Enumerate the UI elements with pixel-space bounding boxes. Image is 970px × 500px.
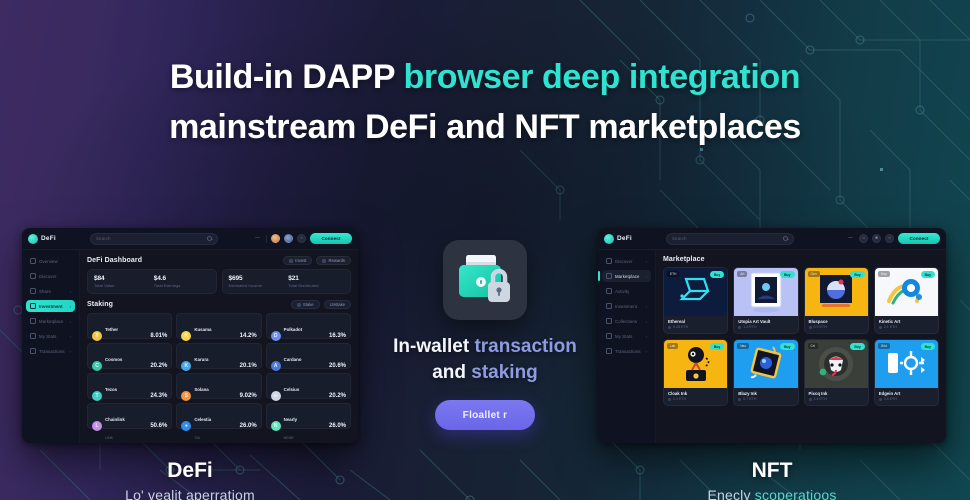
staking-title: Staking xyxy=(87,301,113,308)
stat-card-group-2: $695 Estimated Income $21 Total Distribu… xyxy=(222,269,352,294)
sidebar-item-label: Overview xyxy=(39,259,58,264)
nft-card[interactable]: MapBuyKinetic Art2.1 ETH xyxy=(874,267,939,334)
folder-icon xyxy=(606,318,612,324)
nft-main: Marketplace ETHBuyEthereal0.28 ETHArtBuy… xyxy=(656,250,946,443)
sidebar-item-label: Discover xyxy=(615,259,633,264)
nft-artwork: ETHBuy xyxy=(664,268,727,316)
grid-toggle-icon[interactable]: ■ xyxy=(872,234,881,243)
center-text-plain-2: and xyxy=(432,362,471,383)
nft-tag: Art xyxy=(737,271,747,277)
staking-card-grid: ₮TetherStable8.01%$27 Staked$21 Earned7d… xyxy=(87,313,351,429)
stat-cards: $84 Total Value $4.6 Total Earnings $695… xyxy=(87,269,351,294)
token-name: Cardano xyxy=(284,357,302,362)
sidebar-item-overview[interactable]: Overview xyxy=(26,255,75,267)
activity-icon xyxy=(606,288,612,294)
search-icon xyxy=(207,236,212,241)
stat-label: Total Distributed xyxy=(288,283,344,288)
eth-icon xyxy=(879,398,882,401)
apy-value: 9.02% xyxy=(240,393,257,399)
token-meta: CelestiaTIA xyxy=(194,408,211,443)
unstake-button[interactable]: Unstake xyxy=(324,300,351,309)
token-icon: ∞ xyxy=(271,391,281,401)
staking-card-top: NNearlyNEAR26.0% xyxy=(271,408,346,443)
sidebar-item-my-stats[interactable]: My Stats › xyxy=(26,330,75,342)
brand-label: DeFi xyxy=(41,235,56,242)
nft-caption: NFT Enecly scoperatioos xyxy=(598,458,946,500)
list-icon xyxy=(606,348,612,354)
chevron-right-icon: › xyxy=(646,319,647,324)
token-name: Tether xyxy=(105,327,118,332)
wallet-lock-icon xyxy=(443,240,527,320)
nft-tag: Grid xyxy=(878,343,890,349)
stake-button[interactable]: Stake xyxy=(291,300,320,309)
apy-value: 50.6% xyxy=(150,423,167,429)
page-title: DeFi Dashboard xyxy=(87,257,142,264)
nft-card[interactable]: ArtBuyUtopia Art Vault1.4 ETH xyxy=(733,267,798,334)
defi-topbar: DeFi Search — ☼ Connect xyxy=(22,228,358,250)
defi-dashboard-panel: DeFi Search — ☼ Connect Overview xyxy=(22,228,358,443)
sidebar-item-label: My Stats xyxy=(615,334,633,339)
token-name: Celsius xyxy=(284,387,300,392)
sidebar-item-investment[interactable]: Investment › xyxy=(26,300,75,312)
token-icon: L xyxy=(92,421,102,431)
chevron-right-icon: › xyxy=(70,349,71,354)
staking-card[interactable]: KKusamaKSM14.2%$1 Staked$23 Earned30 Loc… xyxy=(176,313,261,339)
nft-name: Cloak Ink xyxy=(668,391,723,396)
nft-price: 0.9 ETH xyxy=(809,325,864,329)
staking-card[interactable]: ∞CelsiusCEL20.2%$5 Staked$4 Earned30 Loc… xyxy=(266,373,351,399)
nft-price: 0.28 ETH xyxy=(668,325,723,329)
apy-value: 20.2% xyxy=(150,363,167,369)
token-name: Chainlink xyxy=(105,417,125,422)
nft-tag: Map xyxy=(878,271,890,277)
nft-info: Ethereal0.28 ETH xyxy=(664,316,727,333)
eth-icon xyxy=(809,326,812,329)
nft-buy-badge[interactable]: Buy xyxy=(921,271,935,278)
token-symbol: LINK xyxy=(105,436,113,440)
nft-info: Cloak Ink1.1 ETH xyxy=(664,388,727,405)
nft-name: Pixcq Ink xyxy=(809,391,864,396)
nft-info: Blazy Ink0.7 ETH xyxy=(734,388,797,405)
token-name: Cosmos xyxy=(105,357,122,362)
sidebar-item-share[interactable]: Share › xyxy=(26,285,75,297)
avatar[interactable] xyxy=(271,234,280,243)
lock-icon xyxy=(297,303,301,307)
stats-icon xyxy=(606,333,612,339)
chevron-right-icon: › xyxy=(646,274,647,279)
nft-price: 0.7 ETH xyxy=(738,397,793,401)
sidebar-item-label: Activity xyxy=(615,289,629,294)
token-icon: A xyxy=(271,361,281,371)
center-text-accent-2: staking xyxy=(471,362,538,383)
nft-name: Edgein Art xyxy=(879,391,934,396)
nft-artwork: CrtBuy xyxy=(805,340,868,388)
chevron-right-icon: › xyxy=(646,349,647,354)
token-name: Polkadot xyxy=(284,327,303,332)
stat-total-value: $84 Total Value xyxy=(94,275,150,288)
nft-info: Bluspace0.9 ETH xyxy=(805,316,868,333)
list-icon xyxy=(30,348,36,354)
apy-value: 26.0% xyxy=(240,423,257,429)
nft-price: 2.1 ETH xyxy=(879,325,934,329)
compass-icon xyxy=(30,273,36,279)
nft-card[interactable]: GenBuyBluspace0.9 ETH xyxy=(804,267,869,334)
nft-card[interactable]: ETHBuyEthereal0.28 ETH xyxy=(663,267,728,334)
search-toggle-icon[interactable]: ☼ xyxy=(859,234,868,243)
headline-line1-accent: browser deep integration xyxy=(404,58,801,96)
token-name: Celestia xyxy=(194,417,211,422)
token-symbol: NEAR xyxy=(284,436,294,440)
gift-icon xyxy=(322,259,326,263)
nft-artwork: MapBuy xyxy=(875,268,938,316)
bell-icon[interactable]: ☼ xyxy=(885,234,894,243)
chevron-right-icon: › xyxy=(70,289,71,294)
connect-button[interactable]: Connect xyxy=(310,233,352,244)
search-icon xyxy=(783,236,788,241)
invest-label: Invest xyxy=(295,258,306,263)
token-icon: ₮ xyxy=(92,331,102,341)
defi-body: Overview Discover Share › Investment › xyxy=(22,250,358,443)
nft-price: 3.4 ETH xyxy=(809,397,864,401)
sidebar-item-label: Marketplace xyxy=(615,274,640,279)
nft-artwork: LabBuy xyxy=(664,340,727,388)
nft-name: Blazy Ink xyxy=(738,391,793,396)
nft-tag: Crt xyxy=(808,343,818,349)
sidebar-item-discover[interactable]: Discover xyxy=(26,270,75,282)
sidebar-item-transactions[interactable]: Transactions › xyxy=(26,345,75,357)
stat-value: $4.6 xyxy=(154,275,210,282)
nft-artwork: ArtBuy xyxy=(734,268,797,316)
sidebar-item-investment[interactable]: Investment › xyxy=(602,300,651,312)
invest-button[interactable]: Invest xyxy=(283,256,312,265)
brand-label: DeFi xyxy=(617,235,632,242)
nft-tag: ETH xyxy=(667,271,679,277)
stat-value: $21 xyxy=(288,275,344,282)
nft-tag: Gen xyxy=(808,271,820,277)
apy-value: 26.0% xyxy=(329,423,346,429)
nft-info: Utopia Art Vault1.4 ETH xyxy=(734,316,797,333)
eth-icon xyxy=(668,398,671,401)
nft-buy-badge[interactable]: Buy xyxy=(921,343,935,350)
headline: Build-in DAPP browser deep integration m… xyxy=(0,52,970,152)
chart-icon xyxy=(30,303,36,309)
center-feature: In-wallet transaction and staking Floall… xyxy=(370,240,600,430)
apy-value: 20.6% xyxy=(329,363,346,369)
bell-icon[interactable]: ☼ xyxy=(297,234,306,243)
nft-price: 1.1 ETH xyxy=(668,397,723,401)
token-icon: K xyxy=(181,361,191,371)
nft-artwork: GenBuy xyxy=(805,268,868,316)
token-icon: D xyxy=(271,331,281,341)
sidebar-item-label: Share xyxy=(39,289,51,294)
compass-icon xyxy=(606,258,612,264)
nft-card-grid: ETHBuyEthereal0.28 ETHArtBuyUtopia Art V… xyxy=(663,267,939,406)
sidebar-item-label: Transactions xyxy=(615,349,641,354)
apy-value: 14.2% xyxy=(240,333,257,339)
grid-icon xyxy=(30,258,36,264)
sidebar-item-my-stats[interactable]: My Stats › xyxy=(602,330,651,342)
sidebar-item-label: Discover xyxy=(39,274,57,279)
stat-label: Estimated Income xyxy=(229,283,285,288)
sidebar-item-discover[interactable]: Discover › xyxy=(602,255,651,267)
nft-buy-badge[interactable]: Buy xyxy=(850,343,864,350)
nft-buy-badge[interactable]: Buy xyxy=(780,271,794,278)
defi-main: DeFi Dashboard Invest Rewards $84 Total … xyxy=(80,250,358,443)
nft-body: Discover › Marketplace › Activity Invest… xyxy=(598,250,946,443)
caption-subtitle-accent: scoperatioos xyxy=(755,487,837,500)
sidebar-item-transactions[interactable]: Transactions › xyxy=(602,345,651,357)
nft-artwork: NeoBuy xyxy=(734,340,797,388)
staking-card[interactable]: ●CelestiaTIA26.0%$2 Staked$5 Earned30 Lo… xyxy=(176,403,261,429)
staking-card[interactable]: NNearlyNEAR26.0%$2 Staked$4 Earned30d lo… xyxy=(266,403,351,429)
store-icon xyxy=(30,318,36,324)
nft-card[interactable]: LabBuyCloak Ink1.1 ETH xyxy=(663,339,728,406)
rewards-button[interactable]: Rewards xyxy=(316,256,351,265)
stat-label: Total Value xyxy=(94,283,150,288)
eth-icon xyxy=(668,326,671,329)
sidebar-item-activity[interactable]: Activity xyxy=(602,285,651,297)
nft-info: Kinetic Art2.1 ETH xyxy=(875,316,938,333)
token-symbol: TIA xyxy=(194,436,200,440)
defi-sidebar: Overview Discover Share › Investment › xyxy=(22,250,80,443)
marketplace-header: Marketplace xyxy=(663,256,939,263)
staking-card[interactable]: ACardanoADA20.6%$2 Staked$4 Earned30 Loc… xyxy=(266,343,351,369)
connect-button[interactable]: Connect xyxy=(898,233,940,244)
defi-brand[interactable]: DeFi xyxy=(28,234,84,244)
headline-line1-plain: Build-in DAPP xyxy=(170,58,404,96)
stat-card-group-1: $84 Total Value $4.6 Total Earnings xyxy=(87,269,217,294)
unstake-label: Unstake xyxy=(330,302,345,307)
token-icon: ● xyxy=(181,421,191,431)
coin-icon xyxy=(289,259,293,263)
chart-icon xyxy=(606,303,612,309)
caption-subtitle-plain: Enecly xyxy=(707,487,754,500)
apy-value: 16.3% xyxy=(329,333,346,339)
token-name: Nearly xyxy=(284,417,297,422)
token-name: Kusama xyxy=(194,327,211,332)
sidebar-item-label: Marketplace xyxy=(39,319,64,324)
nft-name: Utopia Art Vault xyxy=(738,319,793,324)
stat-value: $695 xyxy=(229,275,285,282)
nft-info: Pixcq Ink3.4 ETH xyxy=(805,388,868,405)
search-placeholder: Search xyxy=(672,236,687,241)
share-icon xyxy=(30,288,36,294)
screenshot-root: Build-in DAPP browser deep integration m… xyxy=(0,0,970,500)
defi-dashboard-header: DeFi Dashboard Invest Rewards xyxy=(87,256,351,265)
center-headline: In-wallet transaction and staking xyxy=(370,334,600,386)
staking-card[interactable]: DPolkadotDOT16.3%$1 Staked$2 Earned30 lo… xyxy=(266,313,351,339)
search-placeholder: Search xyxy=(96,236,111,241)
token-icon: T xyxy=(92,391,102,401)
defi-topbar-tools: — ☼ Connect xyxy=(253,233,352,244)
wallet-cta-button[interactable]: Floallet r xyxy=(435,400,535,430)
center-text-plain: In-wallet xyxy=(393,336,474,357)
chevron-right-icon: › xyxy=(70,319,71,324)
token-name: Solana xyxy=(194,387,208,392)
center-line-2: and staking xyxy=(370,360,600,386)
staking-card-top: ●CelestiaTIA26.0% xyxy=(181,408,256,443)
token-icon: N xyxy=(271,421,281,431)
apy-value: 8.01% xyxy=(150,333,167,339)
stake-label: Stake xyxy=(303,302,314,307)
chevron-right-icon: › xyxy=(646,334,647,339)
nft-buy-badge[interactable]: Buy xyxy=(780,343,794,350)
apy-value: 20.1% xyxy=(240,363,257,369)
nft-buy-badge[interactable]: Buy xyxy=(710,271,724,278)
menu-icon[interactable]: — xyxy=(253,234,262,243)
nft-sidebar: Discover › Marketplace › Activity Invest… xyxy=(598,250,656,443)
divider xyxy=(266,235,267,243)
token-name: Tezos xyxy=(105,387,117,392)
nft-tag: Neo xyxy=(737,343,749,349)
sidebar-item-label: Collections xyxy=(615,319,637,324)
nft-topbar: DeFi Search — ☼ ■ ☼ Connect xyxy=(598,228,946,250)
nft-price: 0.6 ETH xyxy=(879,397,934,401)
stat-total-distributed: $21 Total Distributed xyxy=(288,275,344,288)
token-icon: S xyxy=(181,391,191,401)
caption-title: DeFi xyxy=(22,458,358,484)
headline-line-2: mainstream DeFi and NFT marketplaces xyxy=(40,102,930,152)
staking-card[interactable]: ₮TetherStable8.01%$27 Staked$21 Earned7d… xyxy=(87,313,172,339)
apy-value: 20.2% xyxy=(329,393,346,399)
page-title: Marketplace xyxy=(663,256,705,263)
stats-icon xyxy=(30,333,36,339)
token-icon: C xyxy=(92,361,102,371)
sidebar-item-marketplace[interactable]: Marketplace › xyxy=(602,270,651,282)
chevron-right-icon: › xyxy=(70,304,71,309)
sidebar-item-marketplace[interactable]: Marketplace › xyxy=(26,315,75,327)
nft-name: Kinetic Art xyxy=(879,319,934,324)
nft-tag: Lab xyxy=(667,343,678,349)
center-line-1: In-wallet transaction xyxy=(370,334,600,360)
nft-marketplace-panel: DeFi Search — ☼ ■ ☼ Connect Discover › xyxy=(598,228,946,443)
eth-icon xyxy=(809,398,812,401)
logo-icon xyxy=(604,234,614,244)
rewards-label: Rewards xyxy=(328,258,345,263)
nft-brand[interactable]: DeFi xyxy=(604,234,660,244)
staking-header: Staking Stake Unstake xyxy=(87,300,351,309)
defi-caption: DeFi Lo' vealit aperratiom xyxy=(22,458,358,500)
token-icon: K xyxy=(181,331,191,341)
eth-icon xyxy=(879,326,882,329)
nft-artwork: GridBuy xyxy=(875,340,938,388)
logo-icon xyxy=(28,234,38,244)
center-text-accent: transaction xyxy=(474,336,576,357)
nft-info: Edgein Art0.6 ETH xyxy=(875,388,938,405)
nft-price: 1.4 ETH xyxy=(738,325,793,329)
nft-card[interactable]: CrtBuyPixcq Ink3.4 ETH xyxy=(804,339,869,406)
sidebar-item-label: Transactions xyxy=(39,349,65,354)
caption-subtitle: Lo' vealit aperratiom xyxy=(22,484,358,500)
token-meta: NearlyNEAR xyxy=(284,408,297,443)
staking-card-top: LChainlinkLINK50.6% xyxy=(92,408,167,443)
stat-total-earnings: $4.6 Total Earnings xyxy=(154,275,210,288)
sidebar-item-collections[interactable]: Collections › xyxy=(602,315,651,327)
nft-card[interactable]: GridBuyEdgein Art0.6 ETH xyxy=(874,339,939,406)
token-meta: ChainlinkLINK xyxy=(105,408,125,443)
eth-icon xyxy=(738,326,741,329)
nft-topbar-tools: — ☼ ■ ☼ Connect xyxy=(846,233,940,244)
headline-line-1: Build-in DAPP browser deep integration xyxy=(40,52,930,102)
sidebar-item-label: My Stats xyxy=(39,334,57,339)
store-icon xyxy=(606,273,612,279)
nft-card[interactable]: NeoBuyBlazy Ink0.7 ETH xyxy=(733,339,798,406)
caption-title: NFT xyxy=(598,458,946,484)
stat-estimated-income: $695 Estimated Income xyxy=(229,275,285,288)
nft-buy-badge[interactable]: Buy xyxy=(850,271,864,278)
staking-actions: Stake Unstake xyxy=(291,300,351,309)
staking-card[interactable]: TTezosXTZ24.3%$7 Staked$5 Earned7d lock-… xyxy=(87,373,172,399)
dashboard-actions: Invest Rewards xyxy=(283,256,351,265)
stat-value: $84 xyxy=(94,275,150,282)
caption-subtitle: Enecly scoperatioos xyxy=(598,484,946,500)
nft-name: Bluspace xyxy=(809,319,864,324)
staking-card[interactable]: LChainlinkLINK50.6%$2 Staked$6 Earned30 … xyxy=(87,403,172,429)
menu-icon[interactable]: — xyxy=(846,234,855,243)
token-name: Karura xyxy=(194,357,208,362)
defi-search-input[interactable]: Search xyxy=(90,233,218,245)
nft-search-input[interactable]: Search xyxy=(666,233,794,245)
staking-card[interactable]: KKaruraKAR20.1%$1 Staked$7 Earned10 lock… xyxy=(176,343,261,369)
staking-card[interactable]: CCosmosATOM20.2%$2 Staked$4 Earned20 loc… xyxy=(87,343,172,369)
chevron-right-icon: › xyxy=(646,259,647,264)
staking-card[interactable]: SSolanaSOL9.02%$1 Staked$3 Earned14 Lock… xyxy=(176,373,261,399)
apy-value: 24.3% xyxy=(150,393,167,399)
nft-buy-badge[interactable]: Buy xyxy=(710,343,724,350)
avatar-secondary[interactable] xyxy=(284,234,293,243)
nft-name: Ethereal xyxy=(668,319,723,324)
sidebar-item-label: Investment xyxy=(39,304,63,309)
chevron-right-icon: › xyxy=(646,304,647,309)
eth-icon xyxy=(738,398,741,401)
stat-label: Total Earnings xyxy=(154,283,210,288)
sidebar-item-label: Investment xyxy=(615,304,637,309)
chevron-right-icon: › xyxy=(70,334,71,339)
